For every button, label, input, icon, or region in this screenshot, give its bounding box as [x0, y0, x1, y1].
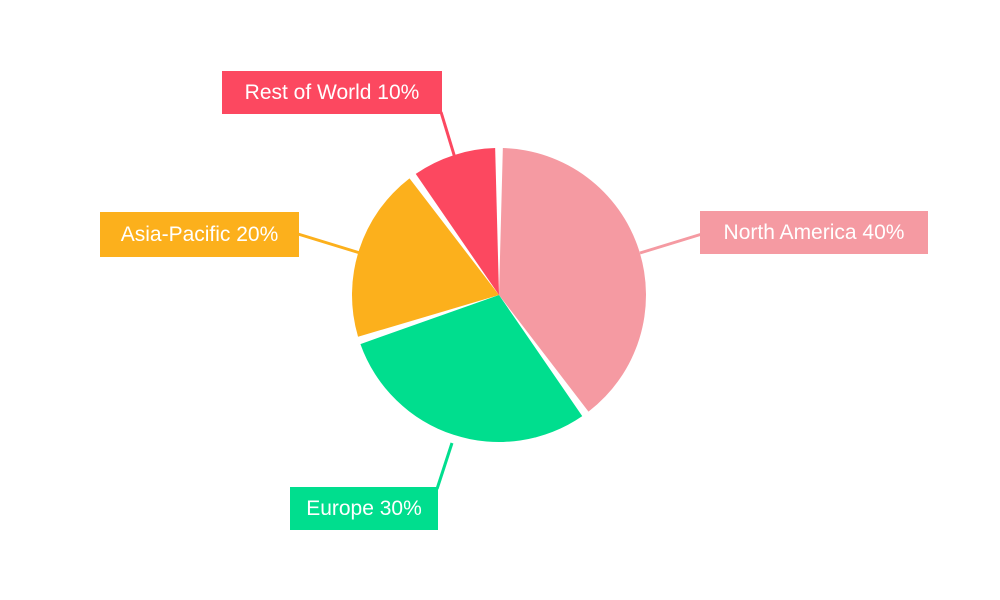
pie-label-asia-pacific[interactable]: Asia-Pacific 20%: [100, 212, 299, 257]
pie-label-europe[interactable]: Europe 30%: [290, 487, 438, 530]
pie-chart-canvas: [0, 0, 1000, 600]
pie-label-north-america[interactable]: North America 40%: [700, 211, 928, 254]
pie-chart-figure: North America 40% Europe 30% Asia-Pacifi…: [0, 0, 1000, 600]
pie-label-rest-of-world[interactable]: Rest of World 10%: [222, 71, 442, 114]
